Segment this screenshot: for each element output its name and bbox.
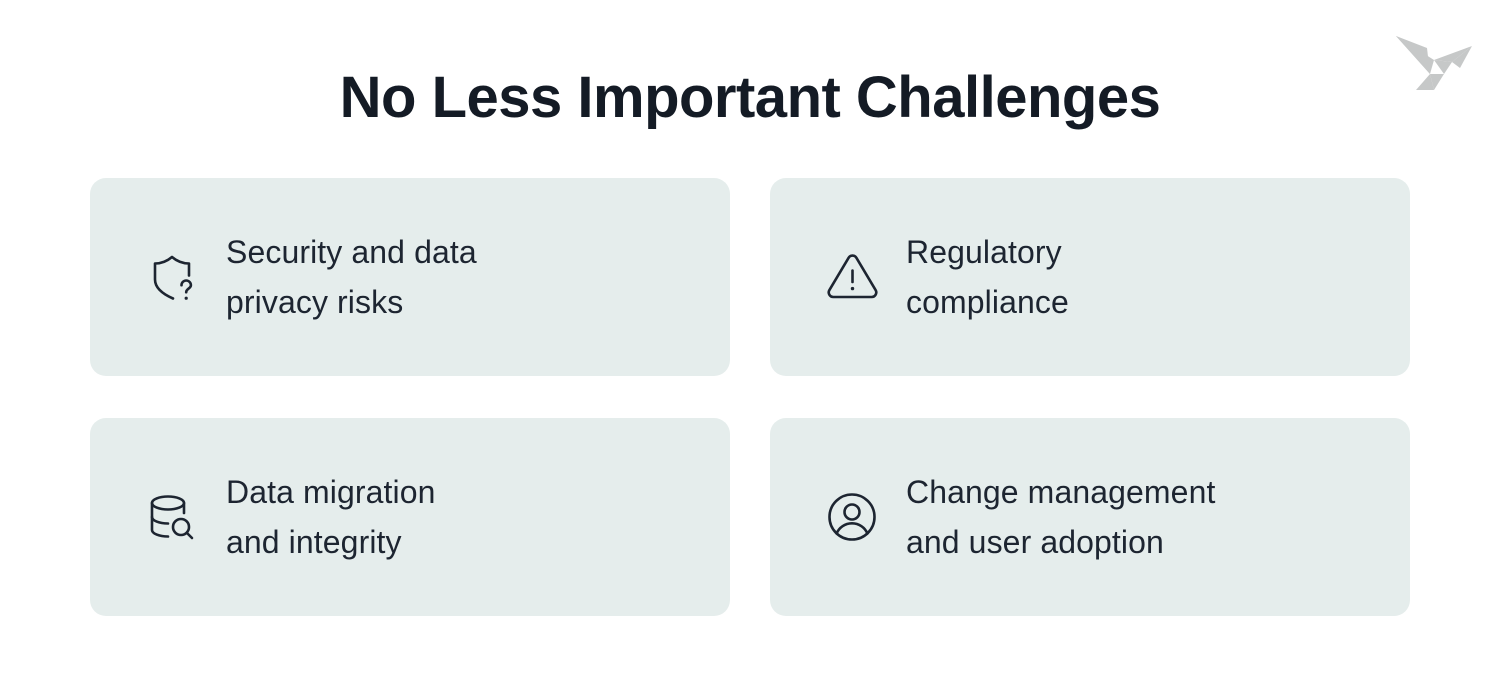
- slide-root: No Less Important Challenges Security an…: [0, 0, 1500, 678]
- challenge-card-regulatory[interactable]: Regulatory compliance: [770, 178, 1410, 376]
- challenge-card-grid: Security and data privacy risks Regulato…: [90, 178, 1410, 616]
- challenge-card-data-migration[interactable]: Data migration and integrity: [90, 418, 730, 616]
- user-circle-icon: [820, 485, 884, 549]
- challenge-card-change-management[interactable]: Change management and user adoption: [770, 418, 1410, 616]
- challenge-card-label: Regulatory compliance: [906, 227, 1069, 327]
- challenge-card-label: Security and data privacy risks: [226, 227, 477, 327]
- page-title: No Less Important Challenges: [0, 62, 1500, 134]
- challenge-card-label: Change management and user adoption: [906, 467, 1215, 567]
- challenge-card-security[interactable]: Security and data privacy risks: [90, 178, 730, 376]
- shield-question-icon: [140, 245, 204, 309]
- database-search-icon: [140, 485, 204, 549]
- warning-triangle-icon: [820, 245, 884, 309]
- challenge-card-label: Data migration and integrity: [226, 467, 436, 567]
